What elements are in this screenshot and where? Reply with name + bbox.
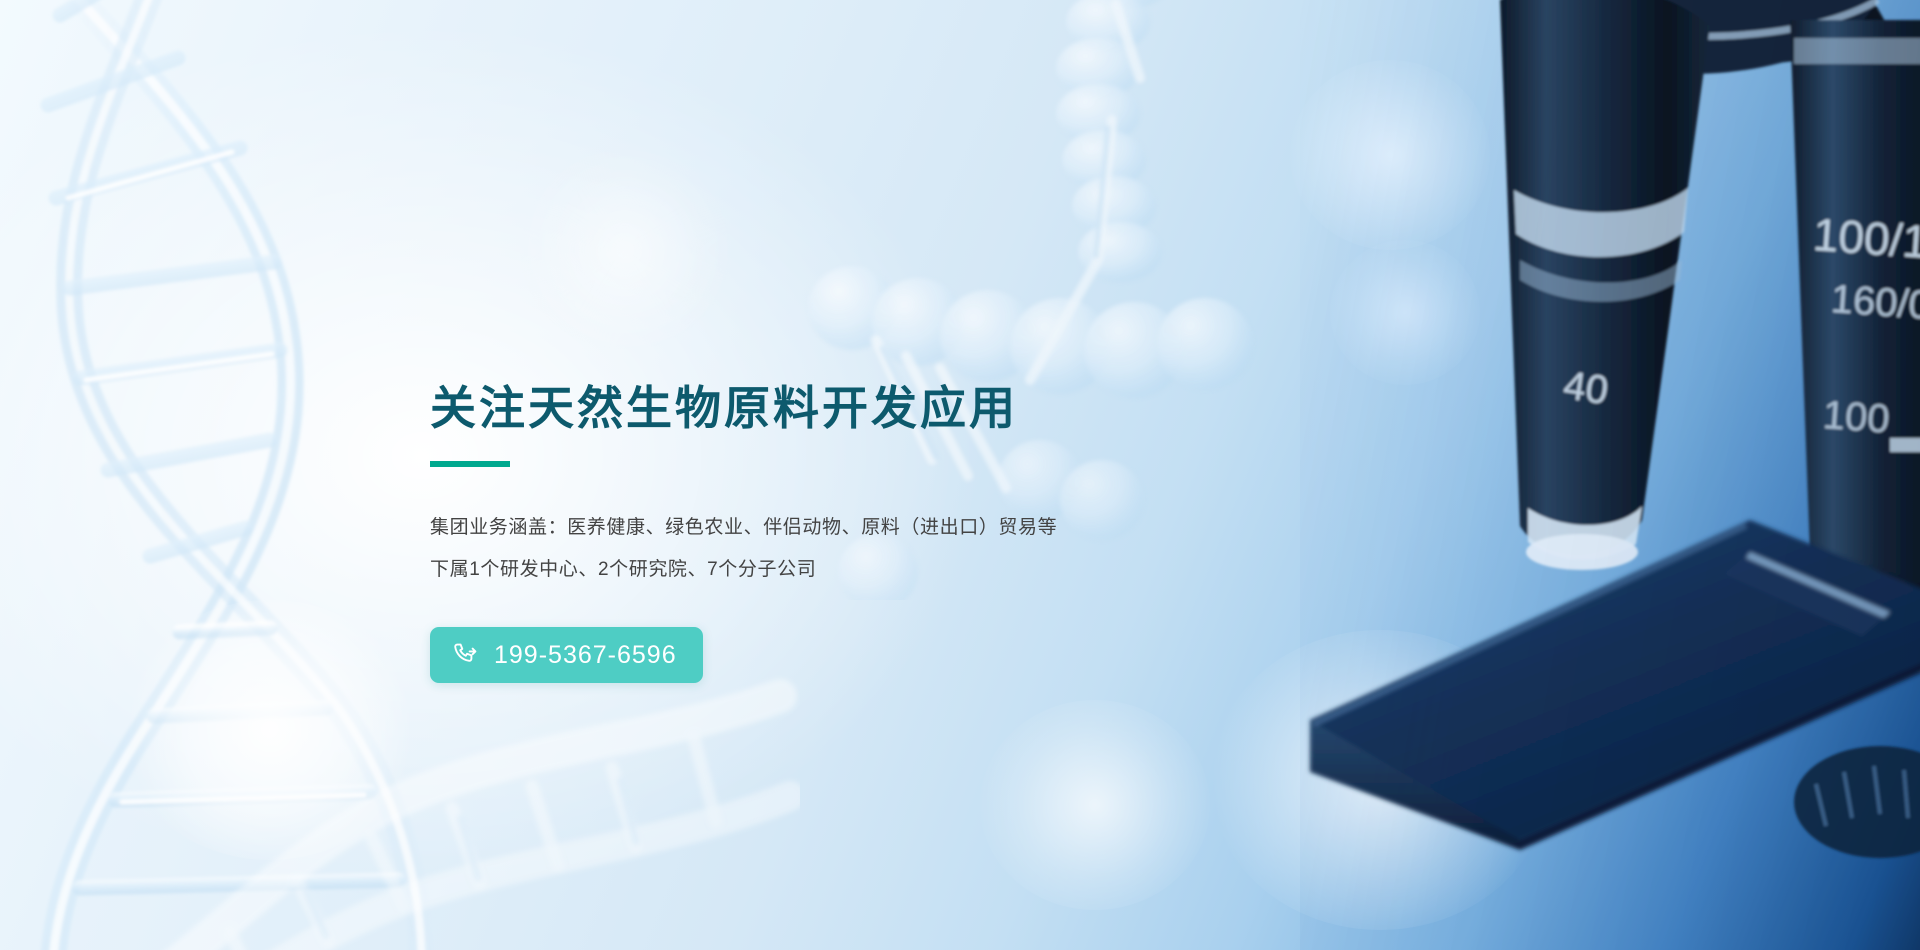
phone-forward-icon	[452, 641, 480, 669]
svg-text:160/0.17: 160/0.17	[1829, 277, 1920, 332]
title-divider	[430, 461, 510, 467]
microscope-icon: 100/1.25 160/0.17 100 40	[1190, 0, 1920, 950]
svg-text:100: 100	[1821, 393, 1891, 442]
hero-description: 集团业务涵盖：医养健康、绿色农业、伴侣动物、原料（进出口）贸易等 下属1个研发中…	[430, 507, 1250, 591]
hero-content: 关注天然生物原料开发应用 集团业务涵盖：医养健康、绿色农业、伴侣动物、原料（进出…	[430, 382, 1250, 683]
bokeh-highlight	[980, 700, 1210, 910]
svg-text:100/1.25: 100/1.25	[1811, 208, 1920, 272]
bokeh-highlight	[1330, 240, 1480, 385]
svg-text:40: 40	[1561, 363, 1611, 413]
bokeh-highlight	[1290, 60, 1490, 250]
description-line-1: 集团业务涵盖：医养健康、绿色农业、伴侣动物、原料（进出口）贸易等	[430, 507, 1250, 549]
phone-cta-button[interactable]: 199-5367-6596	[430, 627, 703, 683]
bokeh-highlight	[1210, 630, 1550, 930]
hero-banner: 100/1.25 160/0.17 100 40	[0, 0, 1920, 950]
bokeh-highlight	[520, 150, 730, 350]
page-title: 关注天然生物原料开发应用	[430, 382, 1250, 435]
right-blue-wash	[1300, 0, 1920, 950]
bokeh-highlight	[120, 600, 420, 860]
description-line-2: 下属1个研发中心、2个研究院、7个分子公司	[430, 549, 1250, 591]
phone-number-label: 199-5367-6596	[494, 641, 677, 670]
